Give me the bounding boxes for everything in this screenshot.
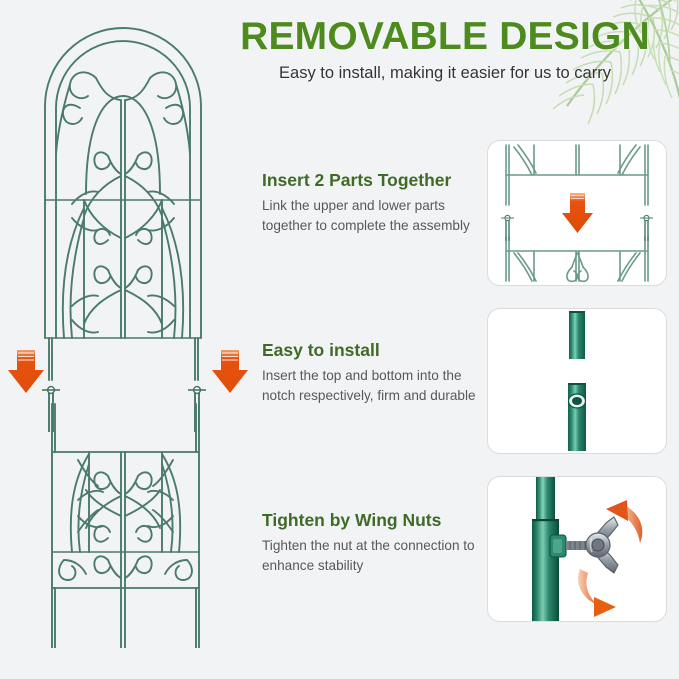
header: REMOVABLE DESIGN Easy to install, making…: [214, 16, 676, 84]
trellis-upper-section: [45, 28, 201, 380]
step-insert-2-parts-together: Insert 2 Parts Together Link the upper a…: [262, 170, 478, 235]
connector-pin-left: [42, 387, 60, 432]
green-tube-lower-icon: [568, 383, 586, 451]
step-heading: Insert 2 Parts Together: [262, 170, 478, 190]
step-heading: Easy to install: [262, 340, 478, 360]
step-tighten-by-wing-nuts: Tighten by Wing Nuts Tighten the nut at …: [262, 510, 478, 575]
step-heading: Tighten by Wing Nuts: [262, 510, 478, 530]
rotate-arrow-down-icon: [578, 569, 616, 617]
trellis-lower-section: [52, 404, 199, 648]
green-tube-upper-icon: [569, 311, 585, 359]
panel-join-sections: [487, 140, 667, 286]
wing-nut-icon: [586, 517, 618, 573]
step-body: Link the upper and lower parts together …: [262, 196, 478, 235]
pole-collar-icon: [550, 535, 566, 557]
product-illustration: [8, 8, 248, 648]
connector-pin-right: [188, 387, 206, 432]
panel-notch-insert: [487, 308, 667, 454]
step-body: Insert the top and bottom into the notch…: [262, 366, 478, 405]
panel-wing-nut: [487, 476, 667, 622]
notch-hole-icon: [569, 394, 586, 408]
step-body: Tighten the nut at the connection to enh…: [262, 536, 478, 575]
step-easy-to-install: Easy to install Insert the top and botto…: [262, 340, 478, 405]
page-title: REMOVABLE DESIGN: [214, 16, 676, 57]
assembly-arrow-left: [8, 350, 44, 393]
assembly-arrow-right: [212, 350, 248, 393]
page-subtitle: Easy to install, making it easier for us…: [214, 64, 676, 84]
infographic-page: REMOVABLE DESIGN Easy to install, making…: [0, 0, 679, 679]
down-arrow-icon: [562, 193, 593, 233]
